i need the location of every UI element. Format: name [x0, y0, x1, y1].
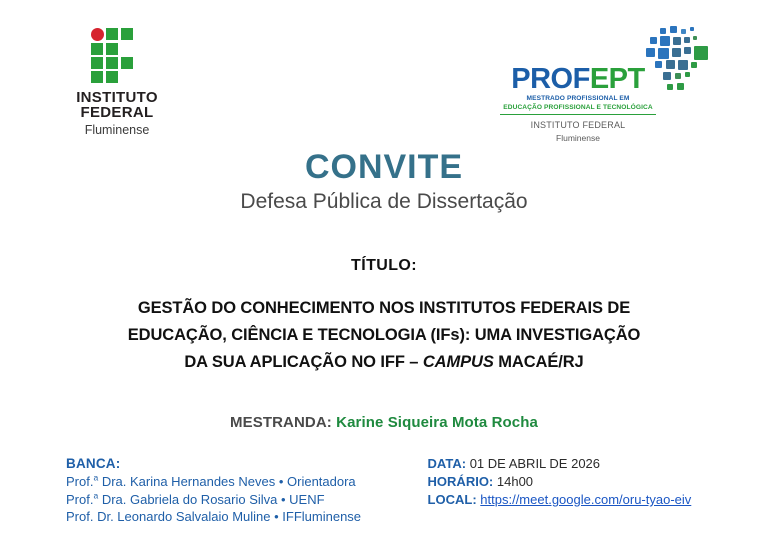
thesis-title-line-2: EDUCAÇÃO, CIÊNCIA E TECNOLOGIA (IFs): UM… [48, 322, 720, 349]
event-time-value: 14h00 [497, 474, 533, 489]
invitation-page: INSTITUTO FEDERAL Fluminense [0, 0, 768, 543]
iff-name-line2: FEDERAL [52, 105, 182, 120]
profept-institution: INSTITUTO FEDERAL [500, 119, 656, 132]
page-subtitle: Defesa Pública de Dissertação [0, 188, 768, 215]
committee-block: BANCA: Prof.a Dra. Karina Hernandes Neve… [66, 455, 428, 526]
committee-heading: BANCA: [66, 455, 428, 473]
profept-word-part2: EPT [590, 63, 645, 95]
thesis-title-line-1: GESTÃO DO CONHECIMENTO NOS INSTITUTOS FE… [48, 295, 720, 322]
instituto-federal-logo: INSTITUTO FEDERAL Fluminense [52, 28, 182, 139]
student-label: MESTRANDA: [230, 414, 332, 431]
iff-campus-label: Fluminense [52, 122, 182, 139]
committee-member-prefix: Prof. [66, 509, 93, 524]
student-name: Karine Siqueira Mota Rocha [336, 414, 538, 431]
profept-tagline-2: EDUCAÇÃO PROFISSIONAL E TECNOLÓGICA [500, 103, 656, 115]
event-date-row: DATA: 01 DE ABRIL DE 2026 [428, 455, 732, 473]
event-place-row: LOCAL: https://meet.google.com/oru-tyao-… [428, 491, 732, 509]
thesis-title-line-3: DA SUA APLICAÇÃO NO IFF – CAMPUS MACAÉ/R… [48, 349, 720, 376]
thesis-title: GESTÃO DO CONHECIMENTO NOS INSTITUTOS FE… [0, 295, 768, 376]
event-time-label: HORÁRIO: [428, 474, 494, 489]
header: INSTITUTO FEDERAL Fluminense [0, 0, 768, 142]
thesis-title-campus-word: CAMPUS [423, 353, 494, 371]
committee-member-rest: Dra. Gabriela do Rosario Silva • UENF [98, 492, 324, 507]
event-time-row: HORÁRIO: 14h00 [428, 473, 732, 491]
profept-wordmark: PROFEPT MESTRADO PROFISSIONAL EM EDUCAÇÃ… [500, 64, 656, 144]
profept-tagline-1: MESTRADO PROFISSIONAL EM [500, 94, 656, 103]
thesis-title-line-3-pre: DA SUA APLICAÇÃO NO IFF – [184, 353, 423, 371]
committee-member: Prof. Dr. Leonardo Salvalaio Muline • IF… [66, 508, 428, 526]
committee-member: Prof.a Dra. Karina Hernandes Neves • Ori… [66, 473, 428, 491]
footer-details: BANCA: Prof.a Dra. Karina Hernandes Neve… [0, 455, 768, 526]
profept-campus: Fluminense [500, 132, 656, 144]
iff-name-line1: INSTITUTO [52, 90, 182, 105]
committee-member-prefix: Prof. [66, 492, 93, 507]
committee-member-prefix: Prof. [66, 474, 93, 489]
committee-member-rest: Dra. Karina Hernandes Neves • Orientador… [98, 474, 355, 489]
profept-word-part1: PROF [511, 63, 590, 95]
event-place-label: LOCAL: [428, 492, 477, 507]
event-date-label: DATA: [428, 456, 467, 471]
profept-logo: PROFEPT MESTRADO PROFISSIONAL EM EDUCAÇÃ… [494, 26, 724, 138]
thesis-title-line-3-post: MACAÉ/RJ [494, 353, 584, 371]
meeting-link[interactable]: https://meet.google.com/oru-tyao-eiv [480, 492, 691, 507]
committee-member: Prof.a Dra. Gabriela do Rosario Silva • … [66, 491, 428, 509]
student-row: MESTRANDA: Karine Siqueira Mota Rocha [0, 414, 768, 431]
event-date-value: 01 DE ABRIL DE 2026 [470, 456, 600, 471]
thesis-title-label: TÍTULO: [0, 257, 768, 275]
profept-word: PROFEPT [500, 64, 656, 94]
instituto-federal-mark-icon [91, 28, 143, 82]
committee-member-rest: Dr. Leonardo Salvalaio Muline • IFFlumin… [93, 509, 361, 524]
profept-brazil-map-icon [646, 26, 720, 98]
page-title: CONVITE [0, 148, 768, 186]
event-info-block: DATA: 01 DE ABRIL DE 2026 HORÁRIO: 14h00… [428, 455, 732, 526]
